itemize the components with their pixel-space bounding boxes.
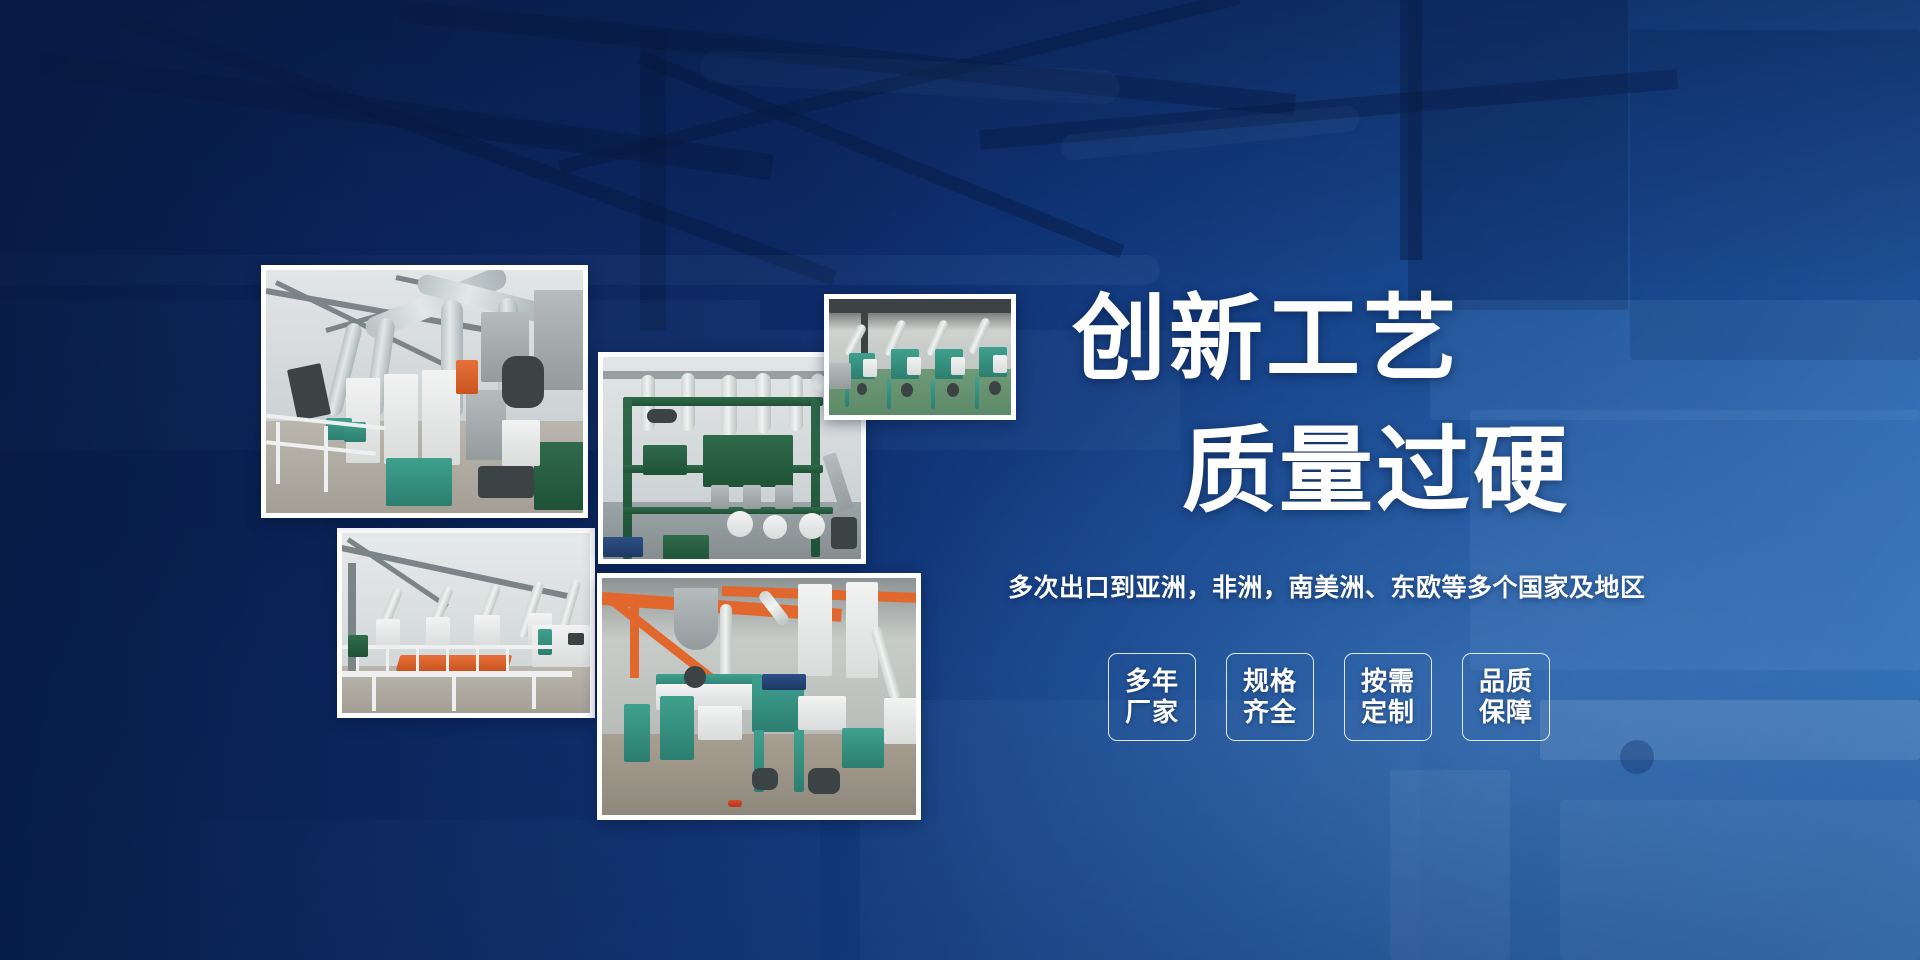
photo-teal-machine-row[interactable] bbox=[824, 294, 1016, 420]
promo-banner: 创新工艺 质量过硬 多次出口到亚洲，非洲，南美洲、东欧等多个国家及地区 多年 厂… bbox=[0, 0, 1920, 960]
feature-badge-custom[interactable]: 按需 定制 bbox=[1344, 653, 1432, 741]
photo-milling-line-ducts[interactable] bbox=[261, 265, 588, 518]
subtitle-text: 多次出口到亚洲，非洲，南美洲、东欧等多个国家及地区 bbox=[1008, 568, 1646, 604]
feature-badge-years[interactable]: 多年 厂家 bbox=[1108, 653, 1196, 741]
badge-line-2: 定制 bbox=[1361, 697, 1415, 728]
photo-collage bbox=[0, 0, 1920, 960]
feature-badge-list: 多年 厂家 规格 齐全 按需 定制 品质 保障 bbox=[1108, 653, 1550, 741]
feature-badge-quality[interactable]: 品质 保障 bbox=[1462, 653, 1550, 741]
badge-line-2: 齐全 bbox=[1243, 697, 1297, 728]
badge-line-2: 厂家 bbox=[1125, 697, 1179, 728]
headline-line-1: 创新工艺 bbox=[1072, 292, 1460, 386]
feature-badge-specs[interactable]: 规格 齐全 bbox=[1226, 653, 1314, 741]
badge-line-1: 多年 bbox=[1125, 666, 1179, 697]
badge-line-2: 保障 bbox=[1479, 697, 1533, 728]
badge-line-1: 规格 bbox=[1243, 666, 1297, 697]
photo-white-orange-line[interactable] bbox=[337, 528, 595, 718]
headline-line-2: 质量过硬 bbox=[1182, 424, 1570, 518]
photo-teal-workshop[interactable] bbox=[597, 573, 921, 820]
badge-line-1: 按需 bbox=[1361, 666, 1415, 697]
badge-line-1: 品质 bbox=[1479, 666, 1533, 697]
